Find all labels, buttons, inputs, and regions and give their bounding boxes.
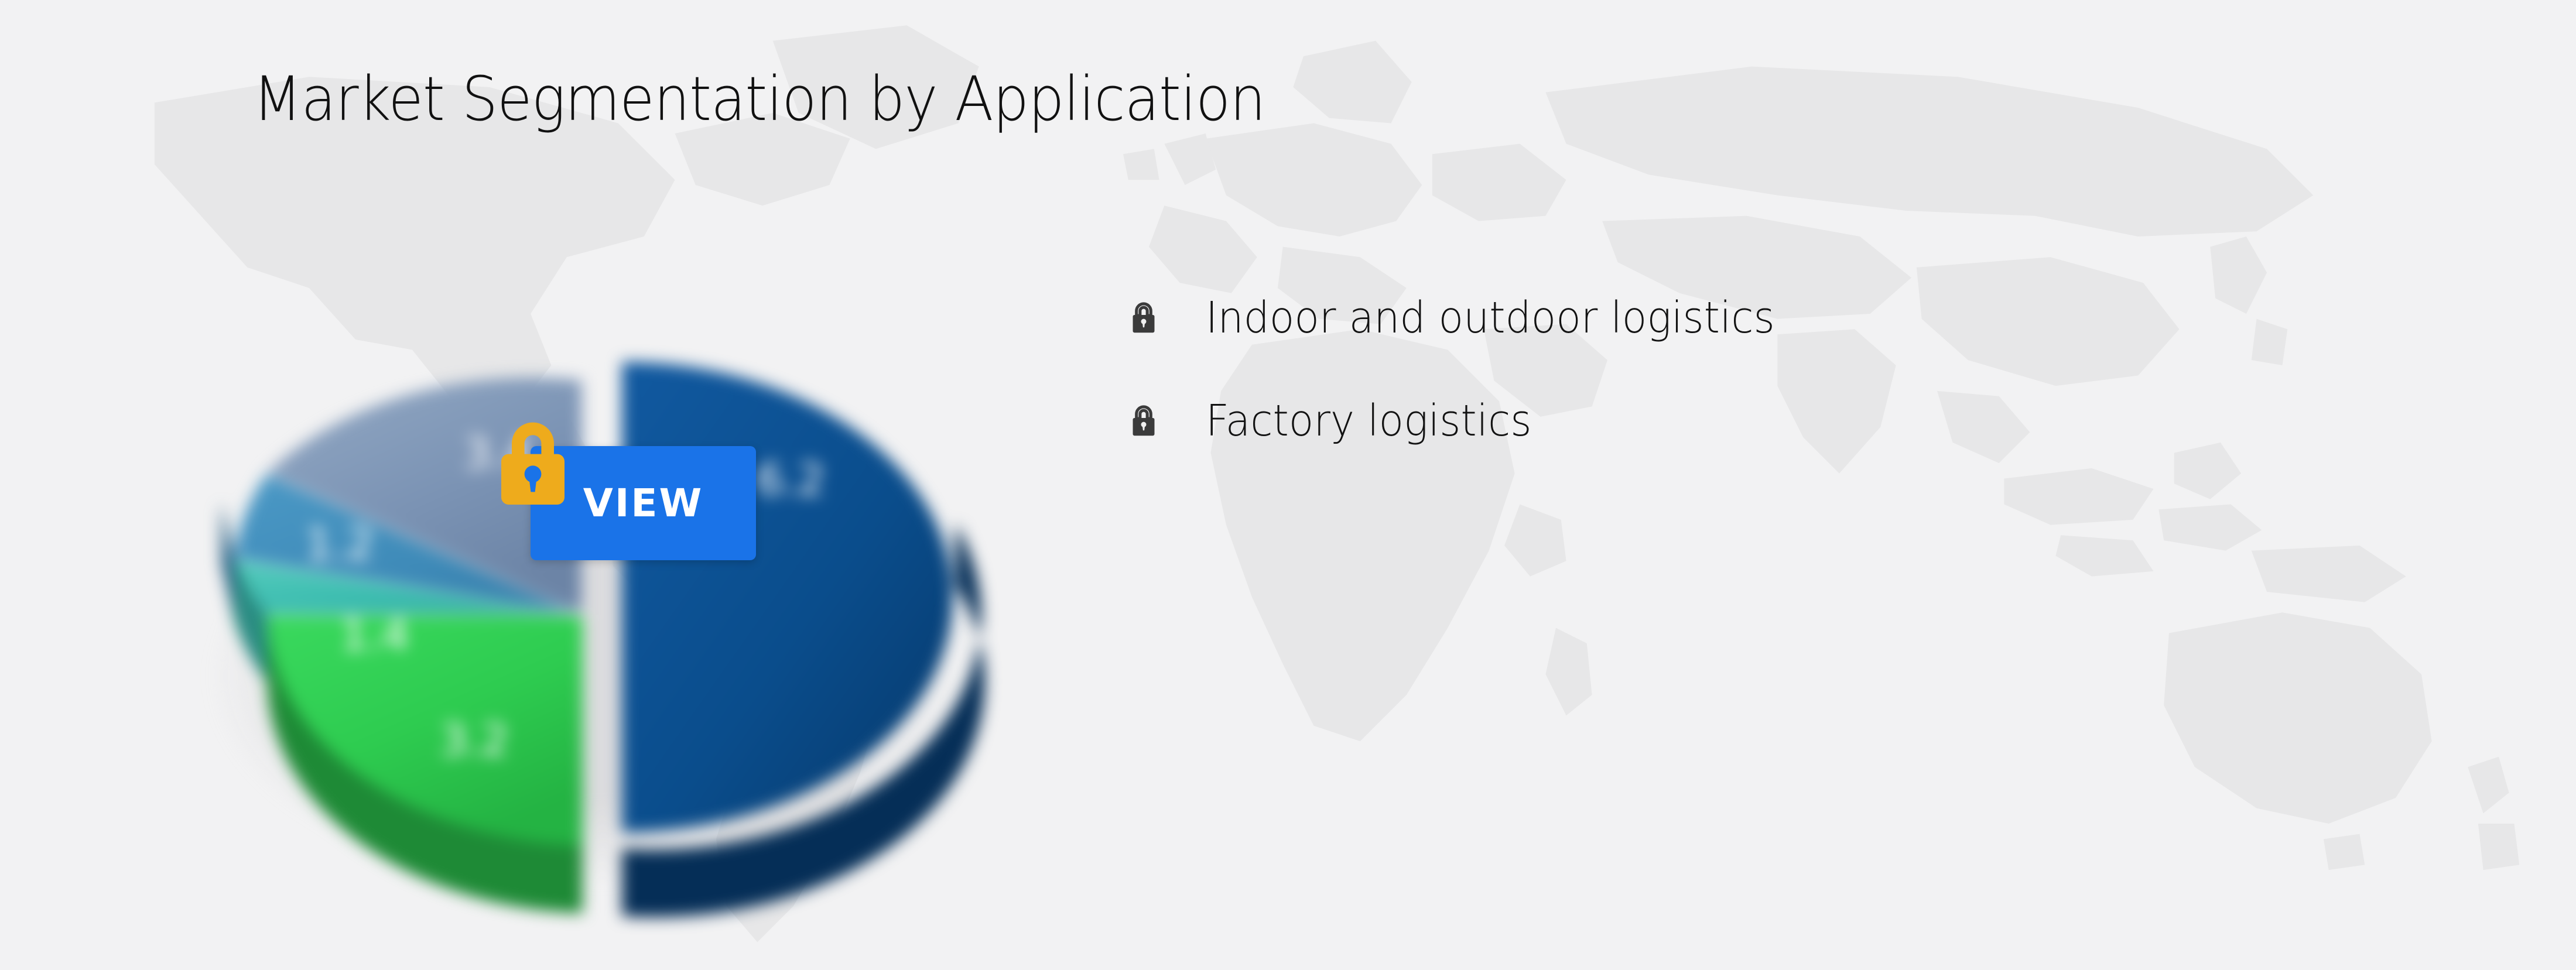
legend-item-indoor-and-outdoor-logistics[interactable]: Indoor and outdoor logistics — [1127, 293, 1811, 343]
legend-item-factory-logistics[interactable]: Factory logistics — [1127, 396, 1811, 446]
page-title: Market Segmentation by Application — [253, 63, 1265, 135]
legend-item-label: Factory logistics — [1206, 396, 1531, 446]
slide-canvas: Market Segmentation by Application — [0, 0, 2576, 970]
lock-icon — [1127, 300, 1160, 336]
legend-item-label: Indoor and outdoor logistics — [1206, 293, 1775, 343]
svg-text:3.2: 3.2 — [440, 715, 509, 766]
svg-text:1.4: 1.4 — [340, 610, 409, 660]
legend: Indoor and outdoor logistics Factory log… — [1127, 293, 1811, 446]
svg-text:6.2: 6.2 — [756, 455, 825, 505]
view-button-label: VIEW — [583, 481, 704, 526]
paywall-overlay: VIEW — [480, 410, 761, 562]
lock-icon — [1127, 403, 1160, 439]
lock-icon — [480, 410, 586, 515]
svg-text:1.2: 1.2 — [305, 519, 374, 570]
